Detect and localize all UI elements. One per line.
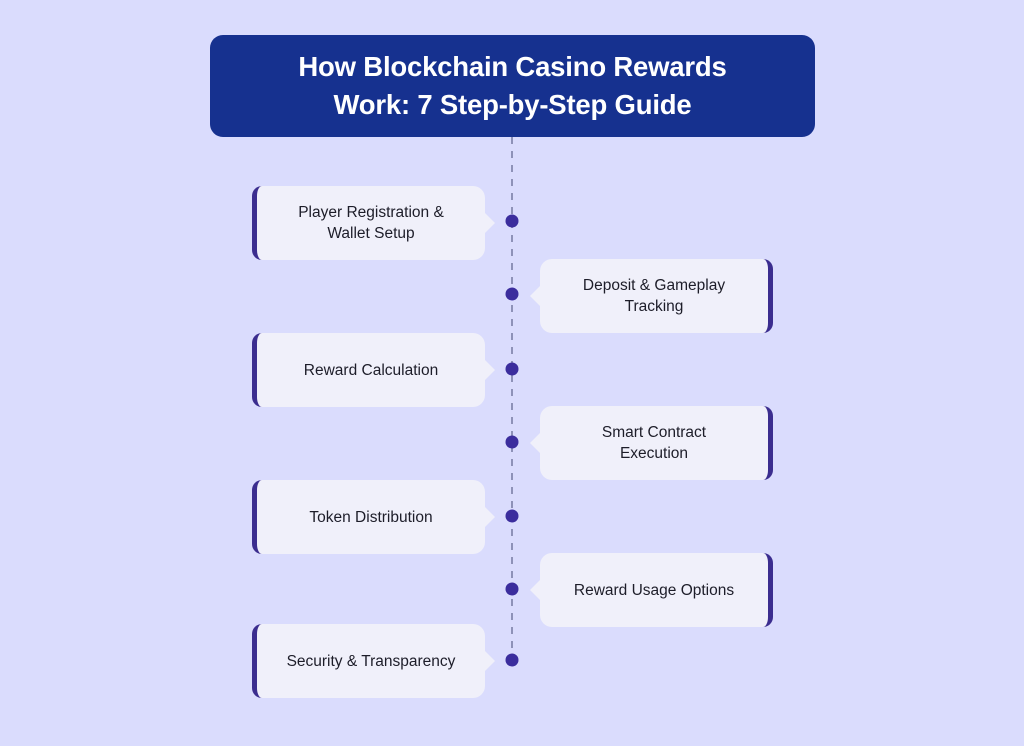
step-card-pointer-icon-7 — [484, 650, 495, 672]
infographic-canvas: How Blockchain Casino Rewards Work: 7 St… — [0, 0, 1024, 746]
title-line-1: How Blockchain Casino Rewards — [298, 48, 726, 86]
step-card-pointer-icon-1 — [484, 212, 495, 234]
step-card-1[interactable]: Player Registration & Wallet Setup — [252, 186, 485, 260]
step-card-3[interactable]: Reward Calculation — [252, 333, 485, 407]
timeline-dot-3 — [506, 363, 519, 376]
step-card-6[interactable]: Reward Usage Options — [540, 553, 773, 627]
step-card-pointer-icon-2 — [530, 285, 541, 307]
step-card-5[interactable]: Token Distribution — [252, 480, 485, 554]
step-card-label-3: Reward Calculation — [278, 360, 464, 381]
timeline-dot-7 — [506, 654, 519, 667]
step-card-pointer-icon-3 — [484, 359, 495, 381]
title-line-2: Work: 7 Step-by-Step Guide — [334, 86, 692, 124]
timeline-dot-1 — [506, 215, 519, 228]
timeline-dot-6 — [506, 583, 519, 596]
step-card-label-2: Deposit & Gameplay Tracking — [557, 275, 751, 317]
step-card-label-6: Reward Usage Options — [548, 580, 760, 601]
step-card-pointer-icon-4 — [530, 432, 541, 454]
step-card-label-5: Token Distribution — [283, 507, 458, 528]
timeline-dot-4 — [506, 436, 519, 449]
step-card-label-4: Smart Contract Execution — [540, 422, 768, 464]
step-card-label-7: Security & Transparency — [261, 651, 482, 672]
timeline-dot-5 — [506, 510, 519, 523]
step-card-7[interactable]: Security & Transparency — [252, 624, 485, 698]
timeline-dot-2 — [506, 288, 519, 301]
step-card-pointer-icon-5 — [484, 506, 495, 528]
step-card-4[interactable]: Smart Contract Execution — [540, 406, 773, 480]
title-banner: How Blockchain Casino Rewards Work: 7 St… — [210, 35, 815, 137]
step-card-label-1: Player Registration & Wallet Setup — [272, 202, 470, 244]
step-card-2[interactable]: Deposit & Gameplay Tracking — [540, 259, 773, 333]
step-card-pointer-icon-6 — [530, 579, 541, 601]
